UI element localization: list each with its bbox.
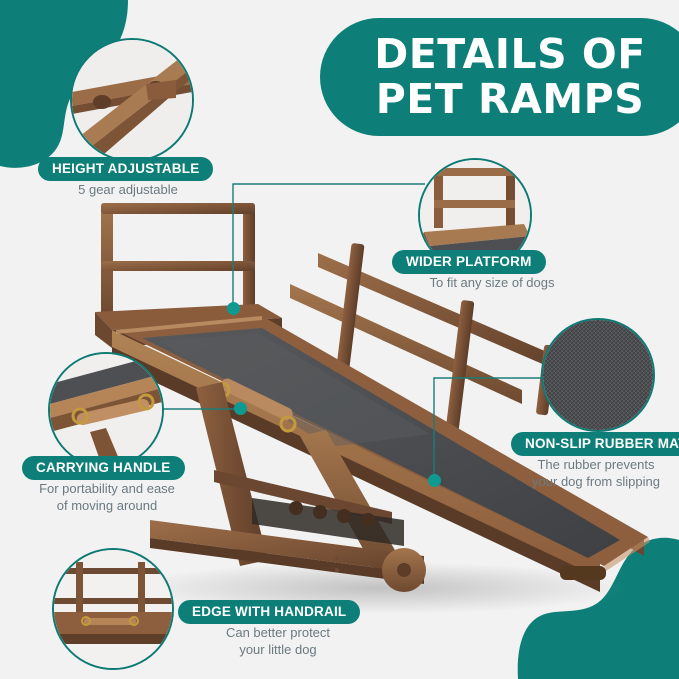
edge-with-handrail-inset-image: [54, 550, 172, 668]
caption-carrying-handle-line1: For portability and ease: [12, 480, 202, 497]
non-slip-rubber-mat-inset: [541, 318, 655, 432]
infographic-page: DETAILS OF PET RAMPS HEIGHT ADJUSTABLE 5…: [0, 0, 679, 679]
carrying-handle-inset: [48, 352, 164, 468]
non-slip-rubber-mat-inset-image: [543, 320, 653, 430]
anchor-dot-non-slip-mat: [428, 474, 441, 487]
pill-height-adjustable: HEIGHT ADJUSTABLE: [38, 157, 213, 181]
caption-wider-platform: To fit any size of dogs: [392, 274, 592, 291]
title-line-1: DETAILS OF: [374, 32, 646, 77]
caption-non-slip-rubber-mat-line1: The rubber prevents: [511, 456, 679, 473]
height-adjustable-inset: [70, 38, 194, 162]
caption-non-slip-rubber-mat: The rubber prevents your dog from slippi…: [511, 456, 679, 490]
caption-wider-platform-line1: To fit any size of dogs: [392, 274, 592, 291]
caption-edge-with-handrail-line1: Can better protect: [178, 624, 378, 641]
pill-carrying-handle: CARRYING HANDLE: [22, 456, 185, 480]
anchor-dot-carrying-handle: [234, 402, 247, 415]
pill-non-slip-rubber-mat: NON-SLIP RUBBER MAT: [511, 432, 679, 456]
height-adjustable-inset-image: [72, 40, 192, 160]
title-line-2: PET RAMPS: [376, 77, 644, 122]
pill-edge-with-handrail: EDGE WITH HANDRAIL: [178, 600, 360, 624]
edge-with-handrail-inset: [52, 548, 174, 670]
caption-edge-with-handrail: Can better protect your little dog: [178, 624, 378, 658]
title-banner: DETAILS OF PET RAMPS: [320, 18, 679, 136]
caption-height-adjustable: 5 gear adjustable: [38, 181, 218, 198]
pill-wider-platform: WIDER PLATFORM: [392, 250, 546, 274]
carrying-handle-inset-image: [50, 354, 162, 466]
caption-non-slip-rubber-mat-line2: your dog from slipping: [511, 473, 679, 490]
caption-edge-with-handrail-line2: your little dog: [178, 641, 378, 658]
caption-carrying-handle: For portability and ease of moving aroun…: [12, 480, 202, 514]
anchor-dot-height-adjustable: [227, 302, 240, 315]
caption-carrying-handle-line2: of moving around: [12, 497, 202, 514]
caption-height-adjustable-line1: 5 gear adjustable: [38, 181, 218, 198]
